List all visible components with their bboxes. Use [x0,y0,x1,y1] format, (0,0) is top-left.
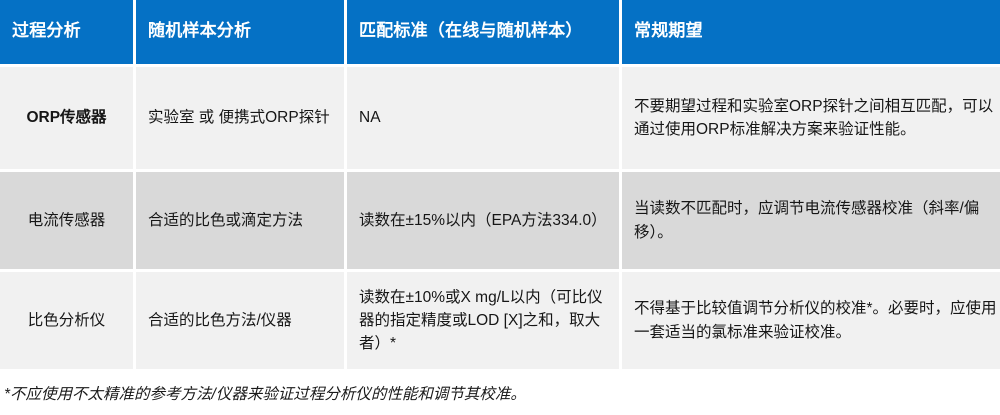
cell-process-analysis: 比色分析仪 [0,272,133,369]
column-header-grab-sample-analysis: 随机样本分析 [136,0,344,64]
table-row: 电流传感器 合适的比色或滴定方法 读数在±15%以内（EPA方法334.0） 当… [0,172,1000,269]
cell-process-analysis: 电流传感器 [0,172,133,269]
cell-match-criteria: 读数在±10%或X mg/L以内（可比仪器的指定精度或LOD [X]之和，取大者… [347,272,619,369]
table-row: ORP传感器 实验室 或 便携式ORP探针 NA 不要期望过程和实验室ORP探针… [0,67,1000,169]
cell-grab-sample-analysis: 合适的比色方法/仪器 [136,272,344,369]
cell-match-criteria: NA [347,67,619,169]
cell-typical-expectation: 不得基于比较值调节分析仪的校准*。必要时，应使用一套适当的氯标准来验证校准。 [622,272,1000,369]
comparison-table: 过程分析 随机样本分析 匹配标准（在线与随机样本） 常规期望 ORP传感器 实验… [0,0,1000,372]
cell-match-criteria: 读数在±15%以内（EPA方法334.0） [347,172,619,269]
column-header-match-criteria: 匹配标准（在线与随机样本） [347,0,619,64]
table-header: 过程分析 随机样本分析 匹配标准（在线与随机样本） 常规期望 [0,0,1000,64]
table-footnote: *不应使用不太精准的参考方法/仪器来验证过程分析仪的性能和调节其校准。 [0,375,1000,406]
table-body: ORP传感器 实验室 或 便携式ORP探针 NA 不要期望过程和实验室ORP探针… [0,67,1000,369]
cell-grab-sample-analysis: 合适的比色或滴定方法 [136,172,344,269]
table-row: 比色分析仪 合适的比色方法/仪器 读数在±10%或X mg/L以内（可比仪器的指… [0,272,1000,369]
cell-process-analysis: ORP传感器 [0,67,133,169]
cell-grab-sample-analysis: 实验室 或 便携式ORP探针 [136,67,344,169]
cell-typical-expectation: 不要期望过程和实验室ORP探针之间相互匹配，可以通过使用ORP标准解决方案来验证… [622,67,1000,169]
cell-typical-expectation: 当读数不匹配时，应调节电流传感器校准（斜率/偏移）。 [622,172,1000,269]
table-header-row: 过程分析 随机样本分析 匹配标准（在线与随机样本） 常规期望 [0,0,1000,64]
column-header-typical-expectation: 常规期望 [622,0,1000,64]
column-header-process-analysis: 过程分析 [0,0,133,64]
comparison-table-container: 过程分析 随机样本分析 匹配标准（在线与随机样本） 常规期望 ORP传感器 实验… [0,0,1000,375]
